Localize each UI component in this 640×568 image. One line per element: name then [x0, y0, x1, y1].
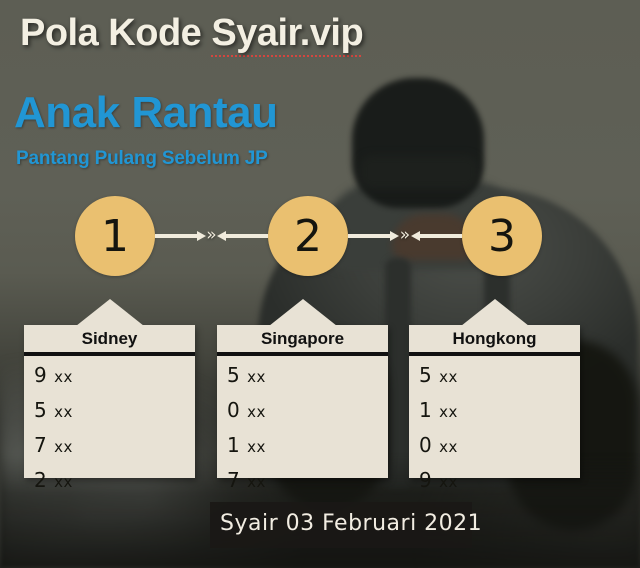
market-card-singapore: Singapore 5 xx 0 xx 1 xx 7 xx — [217, 325, 388, 478]
page-title-domain: Syair.vip — [211, 12, 363, 57]
date-banner: Syair 03 Februari 2021 — [210, 502, 472, 548]
prediction-mask: xx — [439, 368, 458, 386]
card-title: Singapore — [217, 325, 388, 356]
page-title-prefix: Pola Kode — [20, 12, 211, 54]
card-title: Sidney — [24, 325, 195, 356]
background-backpack-strap-left — [385, 258, 411, 488]
prediction-digit: 9 — [34, 363, 48, 387]
list-item: 0 xx — [227, 400, 388, 421]
card-number-list: 9 xx 5 xx 7 xx 2 xx — [24, 356, 195, 491]
prediction-digit: 9 — [419, 468, 433, 492]
step-circle-1: 1 — [75, 196, 155, 276]
prediction-mask: xx — [439, 438, 458, 456]
prediction-digit: 7 — [227, 468, 241, 492]
arrow-shaft-right — [418, 234, 462, 238]
arrow-head-right-icon — [390, 231, 399, 241]
list-item: 1 xx — [227, 435, 388, 456]
arrow-shaft-left — [348, 234, 392, 238]
prediction-digit: 0 — [419, 433, 433, 457]
list-item: 2 xx — [34, 470, 195, 491]
step-circle-3: 3 — [462, 196, 542, 276]
list-item: 5 xx — [419, 365, 580, 386]
prediction-mask: xx — [247, 403, 266, 421]
prediction-mask: xx — [247, 368, 266, 386]
prediction-mask: xx — [54, 368, 73, 386]
page-title: Pola Kode Syair.vip — [20, 12, 363, 55]
chevron-double-right-icon: » — [400, 225, 410, 245]
card-pointer-icon — [76, 299, 144, 326]
arrow-shaft-left — [155, 234, 199, 238]
prediction-mask: xx — [54, 473, 73, 491]
prediction-mask: xx — [54, 403, 73, 421]
date-banner-text: Syair 03 Februari 2021 — [220, 511, 482, 536]
prediction-digit: 5 — [34, 398, 48, 422]
market-card-sidney: Sidney 9 xx 5 xx 7 xx 2 xx — [24, 325, 195, 478]
poster-tagline: Pantang Pulang Sebelum JP — [16, 148, 268, 170]
list-item: 5 xx — [227, 365, 388, 386]
list-item: 9 xx — [419, 470, 580, 491]
arrow-shaft-right — [224, 234, 268, 238]
prediction-digit: 5 — [227, 363, 241, 387]
arrow-head-left-icon — [411, 231, 420, 241]
prediction-digit: 0 — [227, 398, 241, 422]
prediction-mask: xx — [439, 403, 458, 421]
card-number-list: 5 xx 1 xx 0 xx 9 xx — [409, 356, 580, 491]
prediction-digit: 2 — [34, 468, 48, 492]
market-card-hongkong: Hongkong 5 xx 1 xx 0 xx 9 xx — [409, 325, 580, 478]
arrow-head-left-icon — [217, 231, 226, 241]
syair-poster: Pola Kode Syair.vip Anak Rantau Pantang … — [0, 0, 640, 568]
list-item: 1 xx — [419, 400, 580, 421]
poster-subtitle: Anak Rantau — [14, 88, 277, 138]
list-item: 0 xx — [419, 435, 580, 456]
list-item: 9 xx — [34, 365, 195, 386]
arrow-connector-1-2: » — [155, 230, 268, 242]
arrow-head-right-icon — [197, 231, 206, 241]
chevron-double-right-icon: » — [206, 225, 216, 245]
prediction-mask: xx — [54, 438, 73, 456]
prediction-digit: 1 — [419, 398, 433, 422]
list-item: 7 xx — [227, 470, 388, 491]
prediction-mask: xx — [247, 473, 266, 491]
arrow-connector-2-3: » — [348, 230, 462, 242]
card-number-list: 5 xx 0 xx 1 xx 7 xx — [217, 356, 388, 491]
card-pointer-icon — [269, 299, 337, 326]
prediction-mask: xx — [439, 473, 458, 491]
list-item: 5 xx — [34, 400, 195, 421]
step-sequence: 1 2 3 » » — [0, 196, 640, 278]
card-pointer-icon — [461, 299, 529, 326]
step-circle-2: 2 — [268, 196, 348, 276]
list-item: 7 xx — [34, 435, 195, 456]
prediction-mask: xx — [247, 438, 266, 456]
prediction-digit: 7 — [34, 433, 48, 457]
prediction-digit: 5 — [419, 363, 433, 387]
background-beanie-fold — [360, 155, 478, 189]
prediction-digit: 1 — [227, 433, 241, 457]
card-title: Hongkong — [409, 325, 580, 356]
